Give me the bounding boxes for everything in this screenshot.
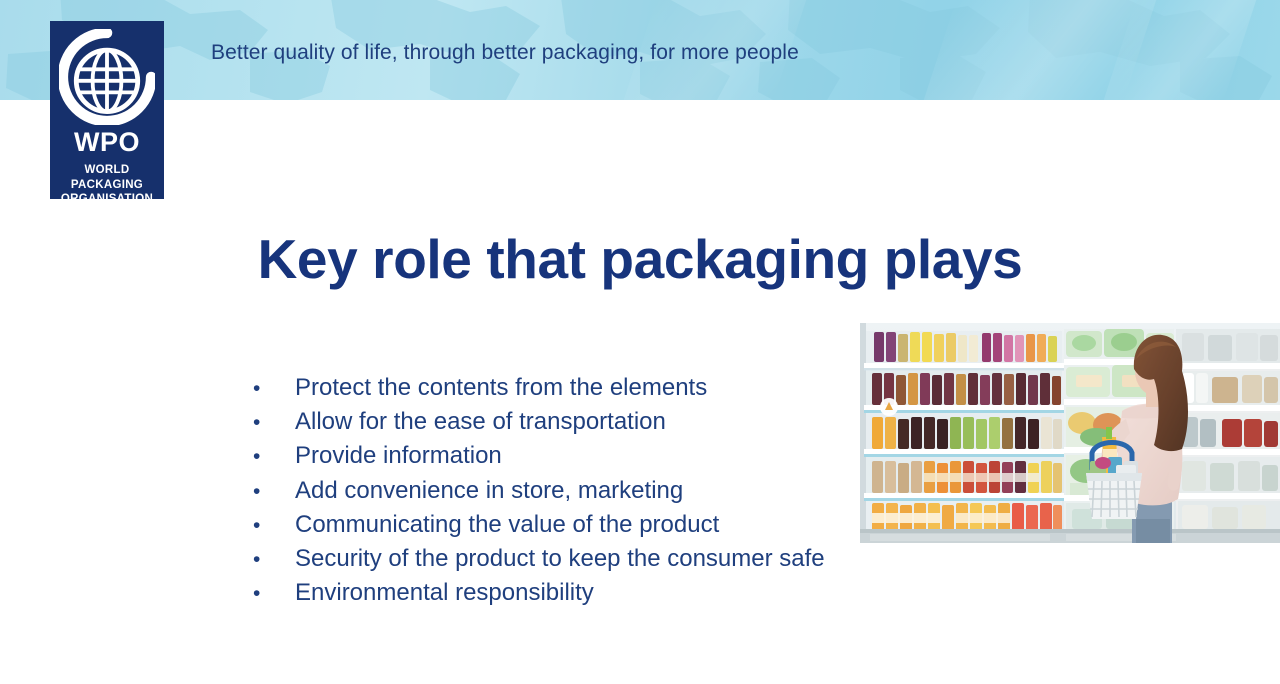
logo-acronym: WPO (50, 129, 164, 156)
list-item-label: Protect the contents from the elements (295, 376, 707, 400)
bullet-marker-icon: • (253, 378, 295, 399)
list-item: • Add convenience in store, marketing (253, 479, 853, 513)
list-item-label: Environmental responsibility (295, 581, 594, 605)
logo-fullname-line1: WORLD (50, 163, 164, 178)
list-item-label: Provide information (295, 444, 502, 468)
header-tagline: Better quality of life, through better p… (211, 41, 799, 65)
bullet-marker-icon: • (253, 583, 295, 604)
bullet-list: • Protect the contents from the elements… (253, 376, 853, 615)
globe-icon (59, 29, 155, 125)
wpo-logo: WPO WORLD PACKAGING ORGANISATION (50, 21, 164, 199)
bullet-marker-icon: • (253, 481, 295, 502)
list-item: • Provide information (253, 444, 853, 478)
bullet-marker-icon: • (253, 515, 295, 536)
list-item: • Environmental responsibility (253, 581, 853, 615)
logo-fullname-line3: ORGANISATION (50, 192, 164, 207)
header-band: Better quality of life, through better p… (0, 0, 1280, 100)
list-item: • Allow for the ease of transportation (253, 410, 853, 444)
bullet-marker-icon: • (253, 549, 295, 570)
list-item: • Protect the contents from the elements (253, 376, 853, 410)
list-item-label: Allow for the ease of transportation (295, 410, 666, 434)
list-item-label: Add convenience in store, marketing (295, 479, 683, 503)
list-item-label: Security of the product to keep the cons… (295, 547, 825, 571)
logo-fullname: WORLD PACKAGING ORGANISATION (50, 163, 164, 207)
bullet-marker-icon: • (253, 446, 295, 467)
logo-fullname-line2: PACKAGING (50, 178, 164, 193)
list-item: • Security of the product to keep the co… (253, 547, 853, 581)
slide-title: Key role that packaging plays (0, 229, 1280, 290)
supermarket-shopper-photo (860, 323, 1280, 543)
bullet-marker-icon: • (253, 412, 295, 433)
list-item: • Communicating the value of the product (253, 513, 853, 547)
list-item-label: Communicating the value of the product (295, 513, 719, 537)
